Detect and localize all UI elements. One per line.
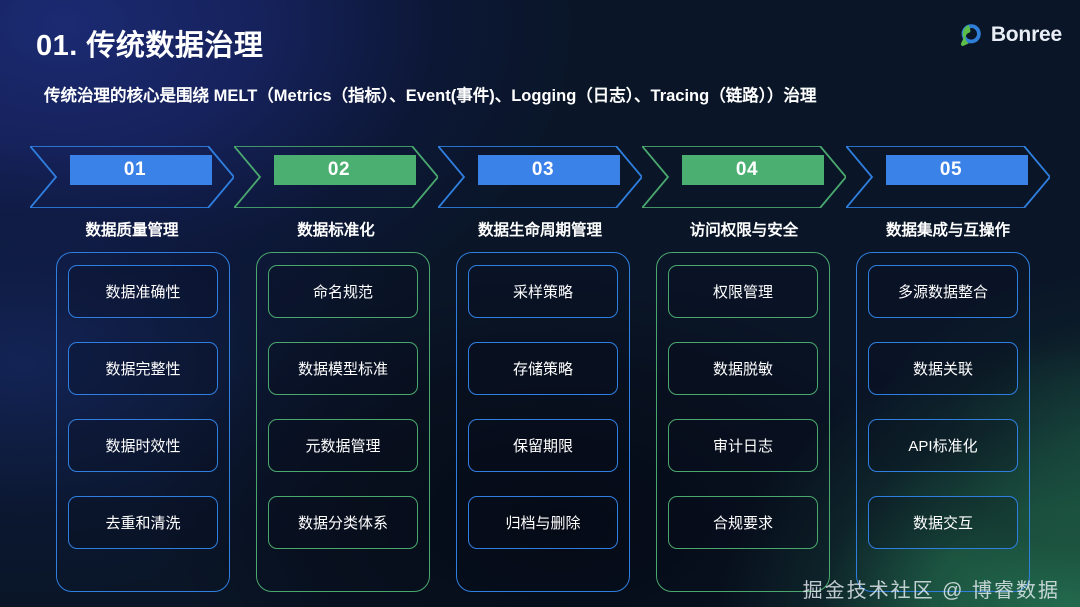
step-item[interactable]: 数据时效性 <box>68 419 218 472</box>
watermark: 掘金技术社区 @ 博睿数据 <box>803 574 1060 603</box>
step-item[interactable]: 保留期限 <box>468 419 618 472</box>
step-number-02: 02 <box>274 155 404 185</box>
slide-root: 01. 传统数据治理 传统治理的核心是围绕 MELT（Metrics（指标）、E… <box>0 0 1080 607</box>
step-column-05: 多源数据整合数据关联API标准化数据交互 <box>856 252 1030 592</box>
step-item[interactable]: 多源数据整合 <box>868 265 1018 318</box>
step-item[interactable]: 数据模型标准 <box>268 342 418 395</box>
step-number-05: 05 <box>886 155 1016 185</box>
page-subtitle: 传统治理的核心是围绕 MELT（Metrics（指标）、Event(事件)、Lo… <box>44 84 1034 110</box>
step-item[interactable]: API标准化 <box>868 419 1018 472</box>
step-columns: 数据准确性数据完整性数据时效性去重和清洗命名规范数据模型标准元数据管理数据分类体… <box>56 252 1036 592</box>
step-item[interactable]: 数据关联 <box>868 342 1018 395</box>
column-header-01: 数据质量管理 <box>30 218 234 244</box>
step-chevron-04[interactable]: 04 <box>642 146 846 208</box>
brand-logo: Bonree <box>958 22 1062 48</box>
step-chevron-02[interactable]: 02 <box>234 146 438 208</box>
step-item[interactable]: 数据分类体系 <box>268 496 418 549</box>
column-header-02: 数据标准化 <box>234 218 438 244</box>
step-number-04: 04 <box>682 155 812 185</box>
column-header-05: 数据集成与互操作 <box>846 218 1050 244</box>
step-chevron-01[interactable]: 01 <box>30 146 234 208</box>
step-number-01: 01 <box>70 155 200 185</box>
step-item[interactable]: 合规要求 <box>668 496 818 549</box>
step-item[interactable]: 数据完整性 <box>68 342 218 395</box>
logo-text: Bonree <box>991 23 1062 47</box>
step-item[interactable]: 命名规范 <box>268 265 418 318</box>
step-item[interactable]: 元数据管理 <box>268 419 418 472</box>
step-chevron-band: 0102030405 <box>30 146 1052 208</box>
step-column-02: 命名规范数据模型标准元数据管理数据分类体系 <box>256 252 430 592</box>
step-number-03: 03 <box>478 155 608 185</box>
step-column-04: 权限管理数据脱敏审计日志合规要求 <box>656 252 830 592</box>
step-item[interactable]: 数据脱敏 <box>668 342 818 395</box>
page-title: 01. 传统数据治理 <box>36 22 263 64</box>
step-column-01: 数据准确性数据完整性数据时效性去重和清洗 <box>56 252 230 592</box>
step-item[interactable]: 审计日志 <box>668 419 818 472</box>
step-item[interactable]: 权限管理 <box>668 265 818 318</box>
column-header-04: 访问权限与安全 <box>642 218 846 244</box>
bonree-circle-icon <box>958 22 984 48</box>
step-item[interactable]: 数据交互 <box>868 496 1018 549</box>
step-item[interactable]: 去重和清洗 <box>68 496 218 549</box>
column-header-03: 数据生命周期管理 <box>438 218 642 244</box>
step-item[interactable]: 采样策略 <box>468 265 618 318</box>
step-chevron-05[interactable]: 05 <box>846 146 1050 208</box>
step-item[interactable]: 存储策略 <box>468 342 618 395</box>
step-item[interactable]: 数据准确性 <box>68 265 218 318</box>
column-header-row: 数据质量管理数据标准化数据生命周期管理访问权限与安全数据集成与互操作 <box>30 218 1052 244</box>
step-item[interactable]: 归档与删除 <box>468 496 618 549</box>
step-column-03: 采样策略存储策略保留期限归档与删除 <box>456 252 630 592</box>
step-chevron-03[interactable]: 03 <box>438 146 642 208</box>
